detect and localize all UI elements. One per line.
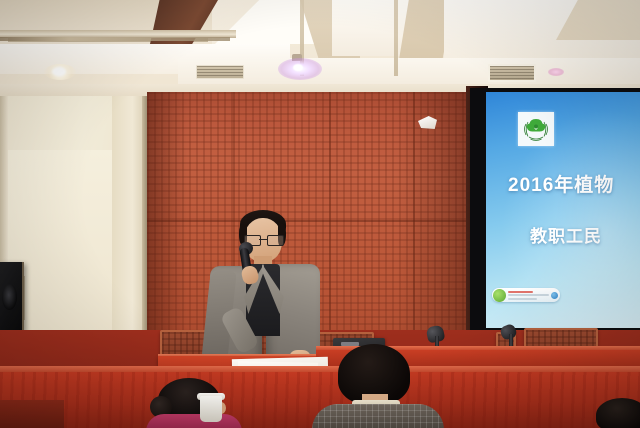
front-table-left-section [0, 400, 64, 428]
badge-text-lines [506, 289, 551, 301]
panel-seam-vertical [329, 92, 331, 364]
wall-loudspeaker [0, 262, 24, 332]
vent-louvers [197, 66, 243, 78]
green-tree-emblem-icon [518, 112, 554, 146]
conference-hall-photo: 2016年植物 教职工民 [0, 0, 640, 428]
audience-hair [596, 398, 640, 428]
audience-clothing [146, 414, 242, 428]
projection-screen[interactable]: 2016年植物 教职工民 [486, 92, 640, 328]
audience-member-front-right [596, 398, 640, 428]
air-vent-icon [488, 64, 536, 82]
spotlight-core [293, 64, 303, 71]
badge-line [508, 291, 533, 293]
cove-light-inner [0, 37, 230, 41]
vent-louvers [490, 66, 534, 80]
ceiling-rib [394, 0, 398, 76]
paper-cup [200, 396, 222, 422]
audience-checkered-jacket [312, 404, 444, 428]
glasses-bridge [259, 239, 267, 240]
badge-line [508, 298, 537, 300]
slide-title: 2016年植物 [508, 170, 614, 197]
air-vent-icon [196, 65, 244, 79]
led-indicator-icon [548, 68, 564, 76]
presenter [204, 204, 322, 372]
badge-line [508, 294, 549, 296]
badge-circle-icon [493, 289, 506, 302]
ceiling [0, 0, 640, 102]
slide-badge [492, 288, 560, 302]
glasses-lens [267, 235, 284, 246]
audience-member-front-center [318, 344, 438, 428]
speaker-cone-icon [2, 284, 17, 310]
downlight-core [52, 67, 66, 76]
wall-shading [147, 92, 187, 364]
audience-member-front-left [146, 378, 240, 428]
slide-subtitle: 教职工民 [530, 222, 602, 247]
wall-corner [0, 96, 8, 266]
badge-dot-icon [551, 292, 558, 299]
